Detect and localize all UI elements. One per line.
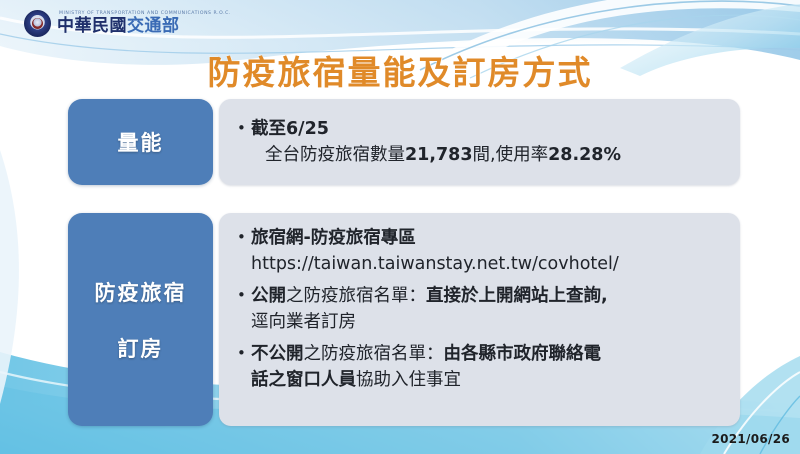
bullet-line: https://taiwan.taiwanstay.net.tw/covhote… [251, 251, 726, 277]
bullet-line: 旅宿網-防疫旅宿專區 [251, 225, 726, 251]
bullet-body: 旅宿網-防疫旅宿專區https://taiwan.taiwanstay.net.… [251, 225, 726, 277]
text-segment: 直接於上開網站上查詢, [426, 286, 608, 306]
row-tag-line: 訂房 [118, 333, 164, 363]
bullet-line: 全台防疫旅宿數量21,783間,使用率28.28% [251, 142, 726, 168]
text-segment: 間,使用率 [473, 145, 549, 165]
bullet-body: 公開之防疫旅宿名單：直接於上開網站上查詢,逕向業者訂房 [251, 283, 726, 335]
bullet-marker-icon: • [237, 116, 251, 141]
bullet-line: 逕向業者訂房 [251, 309, 726, 335]
text-segment: 旅宿網-防疫旅宿專區 [251, 228, 416, 248]
row-tag-line: 防疫旅宿 [95, 277, 187, 307]
bullet-item: •截至6/25全台防疫旅宿數量21,783間,使用率28.28% [237, 116, 726, 168]
bullet-item: •旅宿網-防疫旅宿專區https://taiwan.taiwanstay.net… [237, 225, 726, 277]
text-segment: 話之窗口人員 [251, 370, 356, 390]
content-row-booking: 防疫旅宿訂房 •旅宿網-防疫旅宿專區https://taiwan.taiwans… [68, 213, 740, 426]
text-segment: 逕向業者訂房 [251, 312, 356, 332]
text-segment: 不公開 [251, 344, 304, 364]
content-row-capacity: 量能 •截至6/25全台防疫旅宿數量21,783間,使用率28.28% [68, 99, 740, 185]
row-tag-line: 量能 [118, 127, 164, 157]
row-panel-capacity: •截至6/25全台防疫旅宿數量21,783間,使用率28.28% [219, 99, 740, 185]
bullet-marker-icon: • [237, 341, 251, 366]
row-panel-booking: •旅宿網-防疫旅宿專區https://taiwan.taiwanstay.net… [219, 213, 740, 426]
bullet-line: 話之窗口人員協助入住事宜 [251, 367, 726, 393]
text-segment: 全台防疫旅宿數量 [265, 145, 405, 165]
text-segment: 28.28% [548, 145, 621, 165]
bullet-line: 公開之防疫旅宿名單：直接於上開網站上查詢, [251, 283, 726, 309]
row-tag-capacity: 量能 [68, 99, 213, 185]
logo-chinese-dark: 中華民國 [57, 16, 127, 36]
logo-text-block: MINISTRY OF TRANSPORTATION AND COMMUNICA… [57, 11, 231, 36]
text-segment: 協助入住事宜 [356, 370, 461, 390]
page-title: 防疫旅宿量能及訂房方式 [0, 46, 800, 94]
logo-chinese-name: 中華民國交通部 [57, 17, 231, 36]
ministry-logo: MINISTRY OF TRANSPORTATION AND COMMUNICA… [24, 8, 231, 38]
text-segment: 之防疫旅宿名單： [286, 286, 426, 306]
date-stamp: 2021/06/26 [711, 432, 790, 446]
logo-chinese-blue: 交通部 [127, 16, 180, 36]
text-segment: 之防疫旅宿名單： [304, 344, 444, 364]
bullet-body: 不公開之防疫旅宿名單：由各縣市政府聯絡電話之窗口人員協助入住事宜 [251, 341, 726, 393]
text-segment: 由各縣市政府聯絡電 [444, 344, 602, 364]
text-segment: 21,783 [405, 145, 473, 165]
row-tag-booking: 防疫旅宿訂房 [68, 213, 213, 426]
bullet-line: 截至6/25 [251, 116, 726, 142]
bullet-body: 截至6/25全台防疫旅宿數量21,783間,使用率28.28% [251, 116, 726, 168]
text-segment: https://taiwan.taiwanstay.net.tw/covhote… [251, 254, 619, 274]
slide-canvas: MINISTRY OF TRANSPORTATION AND COMMUNICA… [0, 0, 800, 454]
bullet-marker-icon: • [237, 283, 251, 308]
text-segment: 公開 [251, 286, 286, 306]
bullet-line: 不公開之防疫旅宿名單：由各縣市政府聯絡電 [251, 341, 726, 367]
bullet-item: •公開之防疫旅宿名單：直接於上開網站上查詢,逕向業者訂房 [237, 283, 726, 335]
bullet-item: •不公開之防疫旅宿名單：由各縣市政府聯絡電話之窗口人員協助入住事宜 [237, 341, 726, 393]
bullet-marker-icon: • [237, 225, 251, 250]
motc-emblem-icon [24, 10, 51, 37]
text-segment: 截至6/25 [251, 119, 329, 139]
